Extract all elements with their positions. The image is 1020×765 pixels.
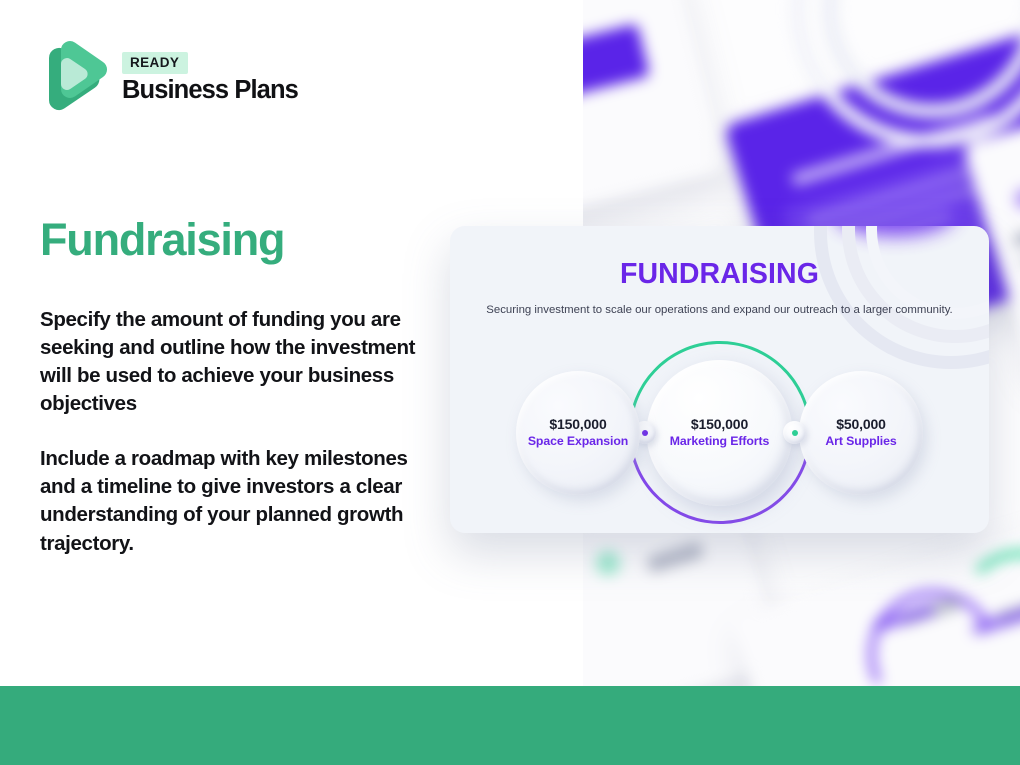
brand-name: Business Plans [122, 76, 298, 104]
card-subtitle: Securing investment to scale our operati… [450, 302, 989, 318]
fundraising-card: FUNDRAISING Securing investment to scale… [450, 226, 989, 533]
breakdown-label: Marketing Efforts [670, 435, 769, 449]
breakdown-amount: $150,000 [691, 417, 748, 432]
body-paragraph-1: Specify the amount of funding you are se… [40, 306, 422, 418]
background-slide-topleft [583, 0, 725, 243]
play-triangle-logo-icon [41, 38, 109, 118]
breakdown-label: Art Supplies [825, 435, 896, 449]
connector-dot-green [792, 430, 798, 436]
breakdown-amount: $150,000 [549, 417, 606, 432]
connector-dot-purple [642, 430, 648, 436]
breakdown-item-space-expansion[interactable]: $150,000 Space Expansion [516, 371, 640, 495]
body-copy: Specify the amount of funding you are se… [40, 306, 422, 558]
connector-node-right [783, 421, 806, 444]
breakdown-center-circle: $150,000 Marketing Efforts [647, 360, 793, 506]
body-paragraph-2: Include a roadmap with key milestones an… [40, 445, 422, 557]
breakdown-item-art-supplies[interactable]: $50,000 Art Supplies [799, 371, 923, 495]
page-title: Fundraising [40, 216, 284, 263]
breakdown-label: Space Expansion [528, 435, 628, 449]
footer-bar [0, 686, 1020, 765]
brand-logo-row[interactable]: READY Business Plans [41, 38, 298, 118]
breakdown-amount: $50,000 [836, 417, 886, 432]
ready-badge: READY [122, 52, 188, 74]
fundraising-breakdown: $150,000 Space Expansion $150,000 Market… [450, 341, 989, 526]
card-title: FUNDRAISING [450, 258, 989, 291]
presentation-slide: READY Business Plans Fundraising Specify… [0, 0, 1020, 765]
